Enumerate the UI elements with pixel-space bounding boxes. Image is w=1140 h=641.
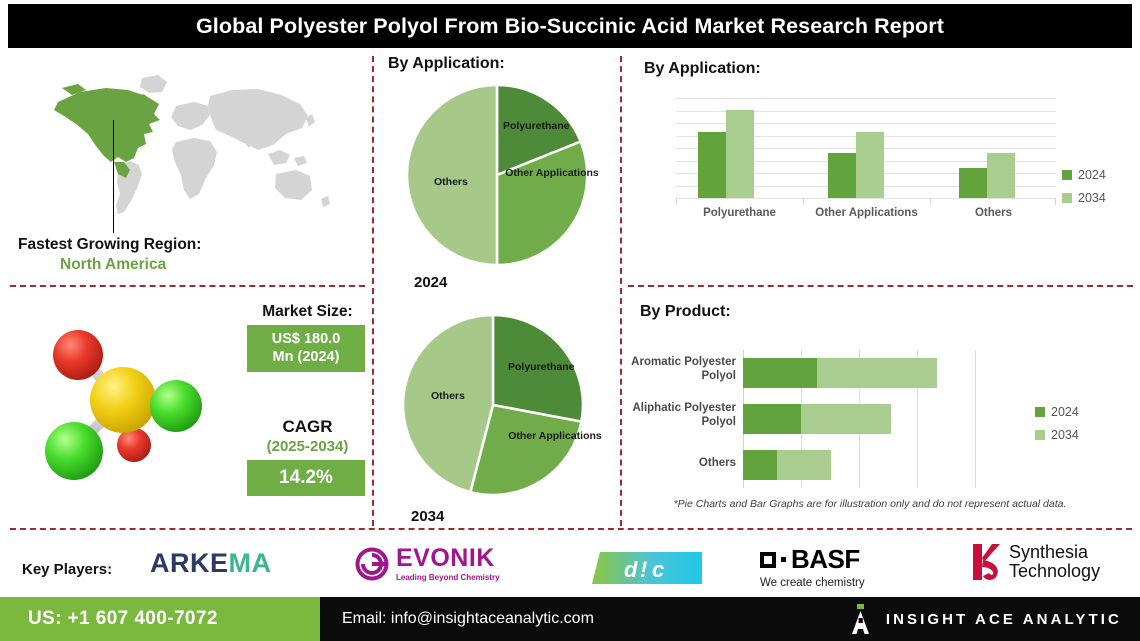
legend-swatch-2034 xyxy=(1035,430,1045,440)
svg-text:c: c xyxy=(652,557,664,582)
pie-2024-label-polyurethane: Polyurethane xyxy=(503,120,570,132)
svg-text:!: ! xyxy=(640,557,647,582)
divider-vertical-left xyxy=(372,56,374,526)
logo-evonik-tagline: Leading Beyond Chemistry xyxy=(396,574,500,582)
product-section-heading: By Product: xyxy=(640,303,731,321)
logo-evonik: EVONIK Leading Beyond Chemistry xyxy=(355,546,500,582)
hbar-2024-aromatic xyxy=(743,358,817,388)
gridline xyxy=(676,198,1056,199)
hbar-category-aromatic: Aromatic Polyester Polyol xyxy=(618,355,736,384)
logo-evonik-name: EVONIK xyxy=(396,546,500,571)
basf-dot-icon xyxy=(781,557,786,562)
pie-2034-label-polyurethane: Polyurethane xyxy=(508,361,575,373)
logo-dic: d ! c xyxy=(590,550,702,586)
insight-ace-logo-icon xyxy=(850,604,872,634)
axis-tick xyxy=(1055,198,1056,205)
gridline xyxy=(676,98,1056,99)
hbar-category-aliphatic: Aliphatic Polyester Polyol xyxy=(618,401,736,430)
legend-label-2034: 2034 xyxy=(1078,191,1106,205)
logo-synthesia-line1: Synthesia xyxy=(1009,543,1100,562)
brand-lockup: INSIGHT ACE ANALYTIC xyxy=(850,597,1122,641)
product-chart-legend: 2024 2034 xyxy=(1035,405,1079,451)
hbar-2024-others xyxy=(743,450,777,480)
bar-section-heading: By Application: xyxy=(644,60,761,78)
title-bar: Global Polyester Polyol From Bio-Succini… xyxy=(8,4,1132,48)
bar-category-others: Others xyxy=(930,207,1057,219)
cagr-years: (2025-2034) xyxy=(240,438,375,455)
logo-synthesia-line2: Technology xyxy=(1009,562,1100,581)
bar-chart-by-application xyxy=(676,98,1056,198)
hbar-row-aliphatic xyxy=(743,404,975,434)
svg-text:d: d xyxy=(624,557,638,582)
divider-horizontal-bottom xyxy=(10,528,1132,530)
key-players-label: Key Players: xyxy=(22,561,112,578)
logo-arkema-part1: ARKE xyxy=(150,548,229,579)
molecule-illustration xyxy=(30,320,220,490)
logo-synthesia: Synthesia Technology xyxy=(970,542,1100,582)
legend-swatch-2024 xyxy=(1035,407,1045,417)
axis-tick xyxy=(930,198,931,205)
hbar-category-others: Others xyxy=(618,456,736,470)
pie-2024-year: 2024 xyxy=(414,274,447,291)
bar-chart-legend: 2024 2034 xyxy=(1062,168,1106,214)
legend-label-2024: 2024 xyxy=(1078,168,1106,182)
pie-2024-label-other-applications: Other Applications xyxy=(505,167,599,179)
bar-category-other-applications: Other Applications xyxy=(803,207,930,219)
footer-phone: US: +1 607 400-7072 xyxy=(28,608,218,630)
pie-2034-label-others: Others xyxy=(431,390,465,402)
pie-chart-2034 xyxy=(400,312,586,498)
legend-item-2024: 2024 xyxy=(1035,405,1079,419)
bar-plot-area xyxy=(676,98,1056,198)
world-map xyxy=(18,62,348,232)
market-size-line2: Mn (2024) xyxy=(272,349,341,366)
logo-arkema-part2: MA xyxy=(229,548,272,579)
legend-item-2034: 2034 xyxy=(1062,191,1106,205)
hbar-2034-aliphatic xyxy=(801,404,891,434)
footer-info-block: Email: info@insightaceanalytic.com INSIG… xyxy=(320,597,1140,641)
bar-chart-by-product xyxy=(743,350,975,488)
bar-2034-other-applications xyxy=(856,132,884,198)
synthesia-k-icon xyxy=(970,542,1004,582)
vertical-gridline xyxy=(975,350,976,488)
bar-2024-polyurethane xyxy=(698,132,726,198)
legend-label-2024: 2024 xyxy=(1051,405,1079,419)
bar-category-polyurethane: Polyurethane xyxy=(676,207,803,219)
pie-2024-label-others: Others xyxy=(434,176,468,188)
market-size-line1: US$ 180.0 xyxy=(272,331,341,348)
cagr-title: CAGR xyxy=(240,417,375,437)
logo-arkema: ARKEMA xyxy=(150,548,272,579)
pie-2034-year: 2034 xyxy=(411,508,444,525)
footer-bar: US: +1 607 400-7072 Email: info@insighta… xyxy=(0,597,1140,641)
legend-label-2034: 2034 xyxy=(1051,428,1079,442)
hbar-row-aromatic xyxy=(743,358,975,388)
hbar-2034-aromatic xyxy=(817,358,937,388)
hbar-2024-aliphatic xyxy=(743,404,801,434)
infographic-root: Global Polyester Polyol From Bio-Succini… xyxy=(0,0,1140,641)
page-title: Global Polyester Polyol From Bio-Succini… xyxy=(196,14,944,39)
logo-basf: BASF We create chemistry xyxy=(760,544,865,589)
hbar-2034-others xyxy=(777,450,831,480)
legend-swatch-2034 xyxy=(1062,193,1072,203)
fastest-growing-region-label: Fastest Growing Region: xyxy=(18,236,258,254)
hbar-row-others xyxy=(743,450,975,480)
fastest-growing-region-value: North America xyxy=(60,256,300,274)
bar-2034-polyurethane xyxy=(726,110,754,198)
market-size-value-box: US$ 180.0 Mn (2024) xyxy=(247,325,365,372)
bar-2034-others xyxy=(987,153,1015,198)
brand-name: INSIGHT ACE ANALYTIC xyxy=(886,611,1122,628)
legend-item-2034: 2034 xyxy=(1035,428,1079,442)
pie-section-heading: By Application: xyxy=(388,55,505,73)
cagr-value-box: 14.2% xyxy=(247,460,365,496)
divider-horizontal-right xyxy=(628,285,1133,287)
market-size-title: Market Size: xyxy=(245,303,370,321)
map-leader-line xyxy=(113,120,114,233)
pie-2034-label-other-applications: Other Applications xyxy=(508,430,602,442)
axis-tick xyxy=(676,198,677,205)
logo-basf-tagline: We create chemistry xyxy=(760,577,865,589)
basf-square-icon xyxy=(760,552,776,568)
axis-tick xyxy=(803,198,804,205)
bar-2024-other-applications xyxy=(828,153,856,198)
bar-2024-others xyxy=(959,168,987,198)
chart-footnote: *Pie Charts and Bar Graphs are for illus… xyxy=(640,498,1100,510)
evonik-mark-icon xyxy=(355,547,389,581)
divider-horizontal-left xyxy=(10,285,365,287)
footer-phone-block[interactable]: US: +1 607 400-7072 xyxy=(0,597,320,641)
logo-basf-name: BASF xyxy=(791,544,860,575)
legend-item-2024: 2024 xyxy=(1062,168,1106,182)
footer-email[interactable]: Email: info@insightaceanalytic.com xyxy=(342,610,594,628)
legend-swatch-2024 xyxy=(1062,170,1072,180)
